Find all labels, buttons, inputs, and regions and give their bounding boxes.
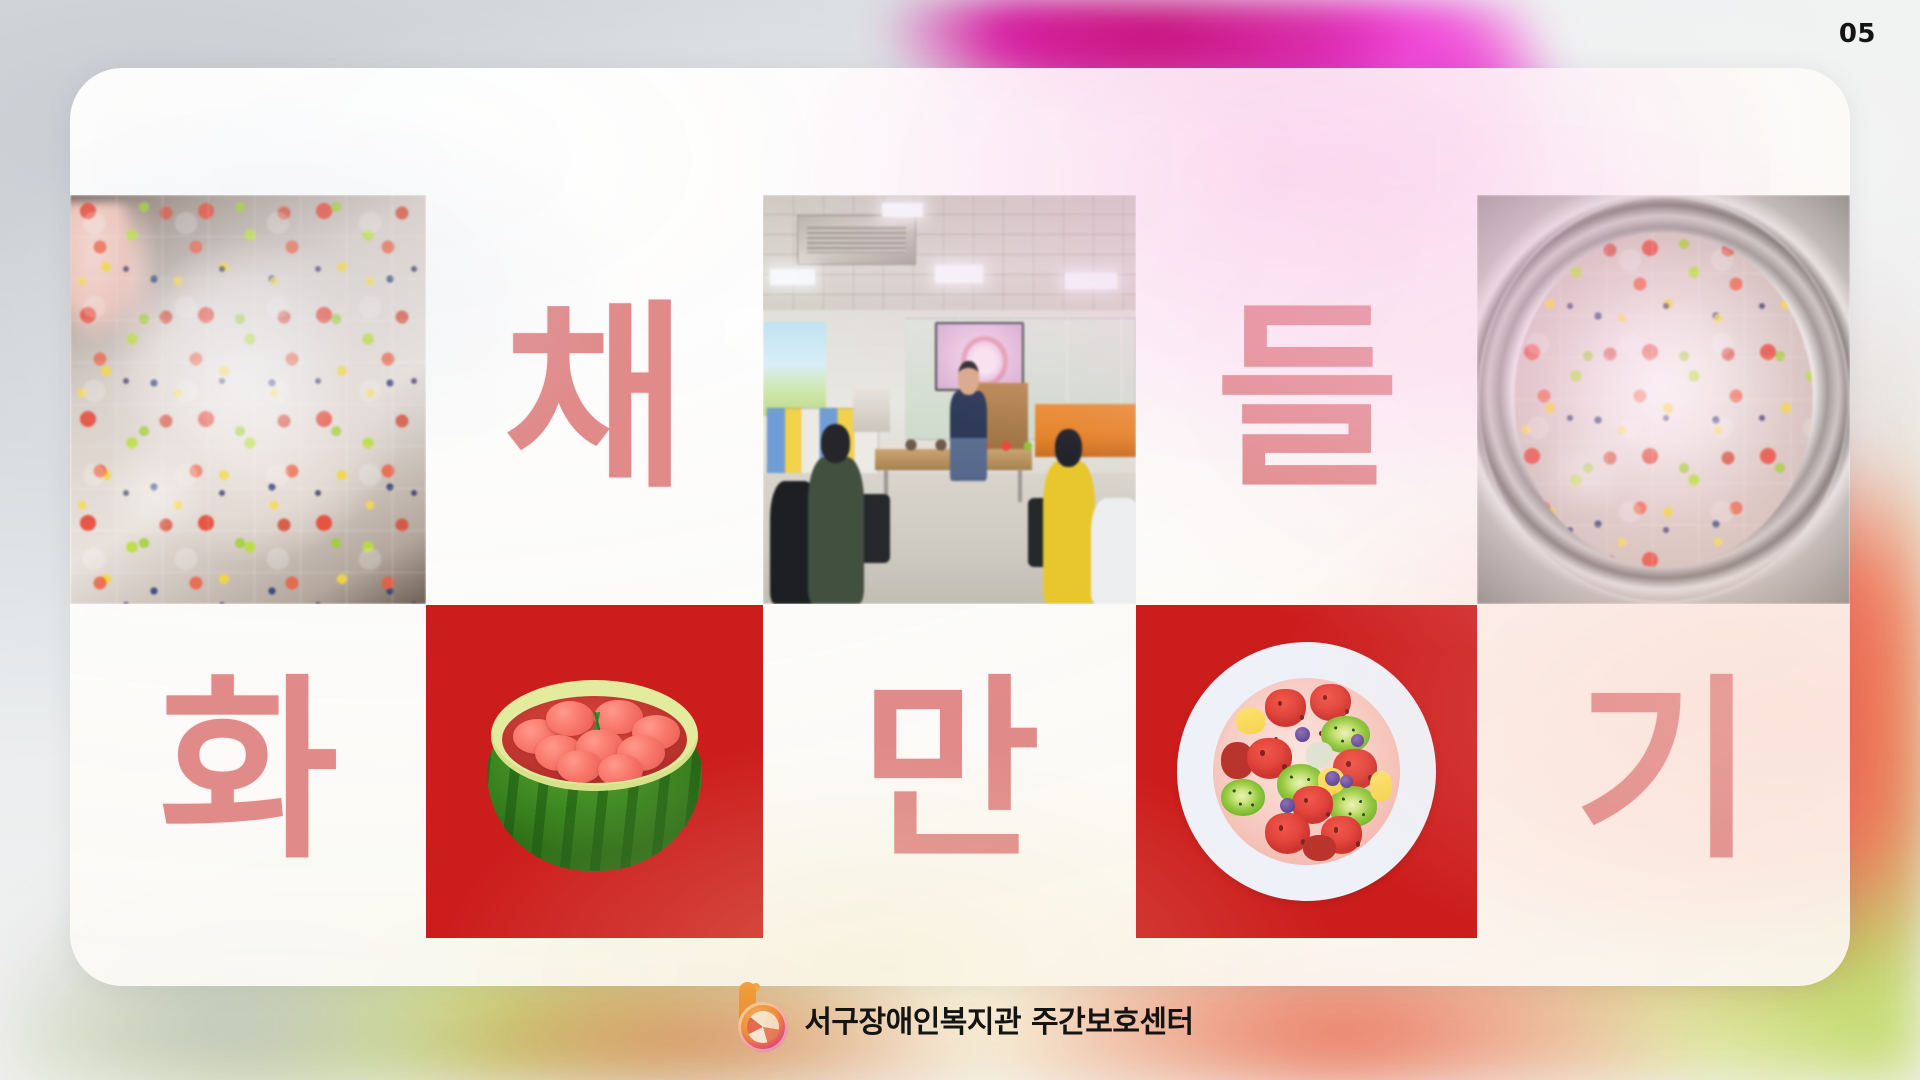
photo-tile-meeting-room [763,195,1136,604]
watermelon-piece [1303,835,1337,861]
illustration-tile-fruit-salad [1136,605,1477,938]
melon-balls [502,696,687,783]
tile-grid: 채 [70,68,1850,986]
melon-ball [557,750,602,783]
participant [808,457,864,604]
presentation-screen [935,322,1025,392]
kiwi-slice [1221,779,1266,816]
page-number: 05 [1839,19,1876,49]
seogu-welfare-center-logo-icon [726,980,790,1058]
watermelon-flesh [502,696,687,783]
ceiling-light [770,269,815,285]
title-cell-deul: 들 [1136,195,1477,604]
illustration-tile-watermelon [426,605,763,938]
footer: 서구장애인복지관 주간보호센터 [0,980,1920,1058]
participant [1043,461,1095,604]
air-conditioner [797,215,916,264]
ceiling-light [882,203,923,217]
office-partition [1035,404,1136,457]
melon-ball [598,754,643,784]
bowl-rim [1477,195,1850,604]
mango-piece [1236,708,1266,734]
presenter-person [950,391,987,481]
participant [1091,498,1136,604]
mint-leaf [582,712,612,730]
content-card: 채 [70,68,1850,986]
fruit-salad-bowl-illustration [1136,605,1477,938]
title-cell-man: 만 [763,605,1136,938]
fruit-punch-bowl-photo [70,195,426,604]
title-cell-hwa: 화 [70,605,426,938]
side-cabinet [853,387,890,432]
watermelon-bowl-illustration [426,605,763,938]
steel-bowl-punch-photo [1477,195,1850,604]
program-classroom-photo [763,195,1136,604]
blueberry [1280,798,1295,813]
watermelon-shape [487,672,703,870]
logo-disc [738,1002,788,1052]
slide-canvas: 05 채 [0,0,1920,1080]
salad-contents [1213,678,1400,865]
blueberry [1295,727,1310,742]
title-cell-gi: 기 [1477,605,1850,938]
title-cell-chae: 채 [426,195,763,604]
mango-piece [1370,771,1392,801]
ceiling-light [1065,273,1117,289]
photo-tile-steel-bowl [1477,195,1850,604]
strawberry-piece [1265,689,1306,726]
photo-tile-fruit-punch [70,195,426,604]
ceiling-light [935,265,983,283]
punch-foam [70,195,426,604]
organization-name: 서구장애인복지관 주간보호센터 [804,997,1193,1041]
pear-piece [1306,742,1332,768]
wall-mural [763,322,826,416]
salad-bowl [1177,642,1436,901]
